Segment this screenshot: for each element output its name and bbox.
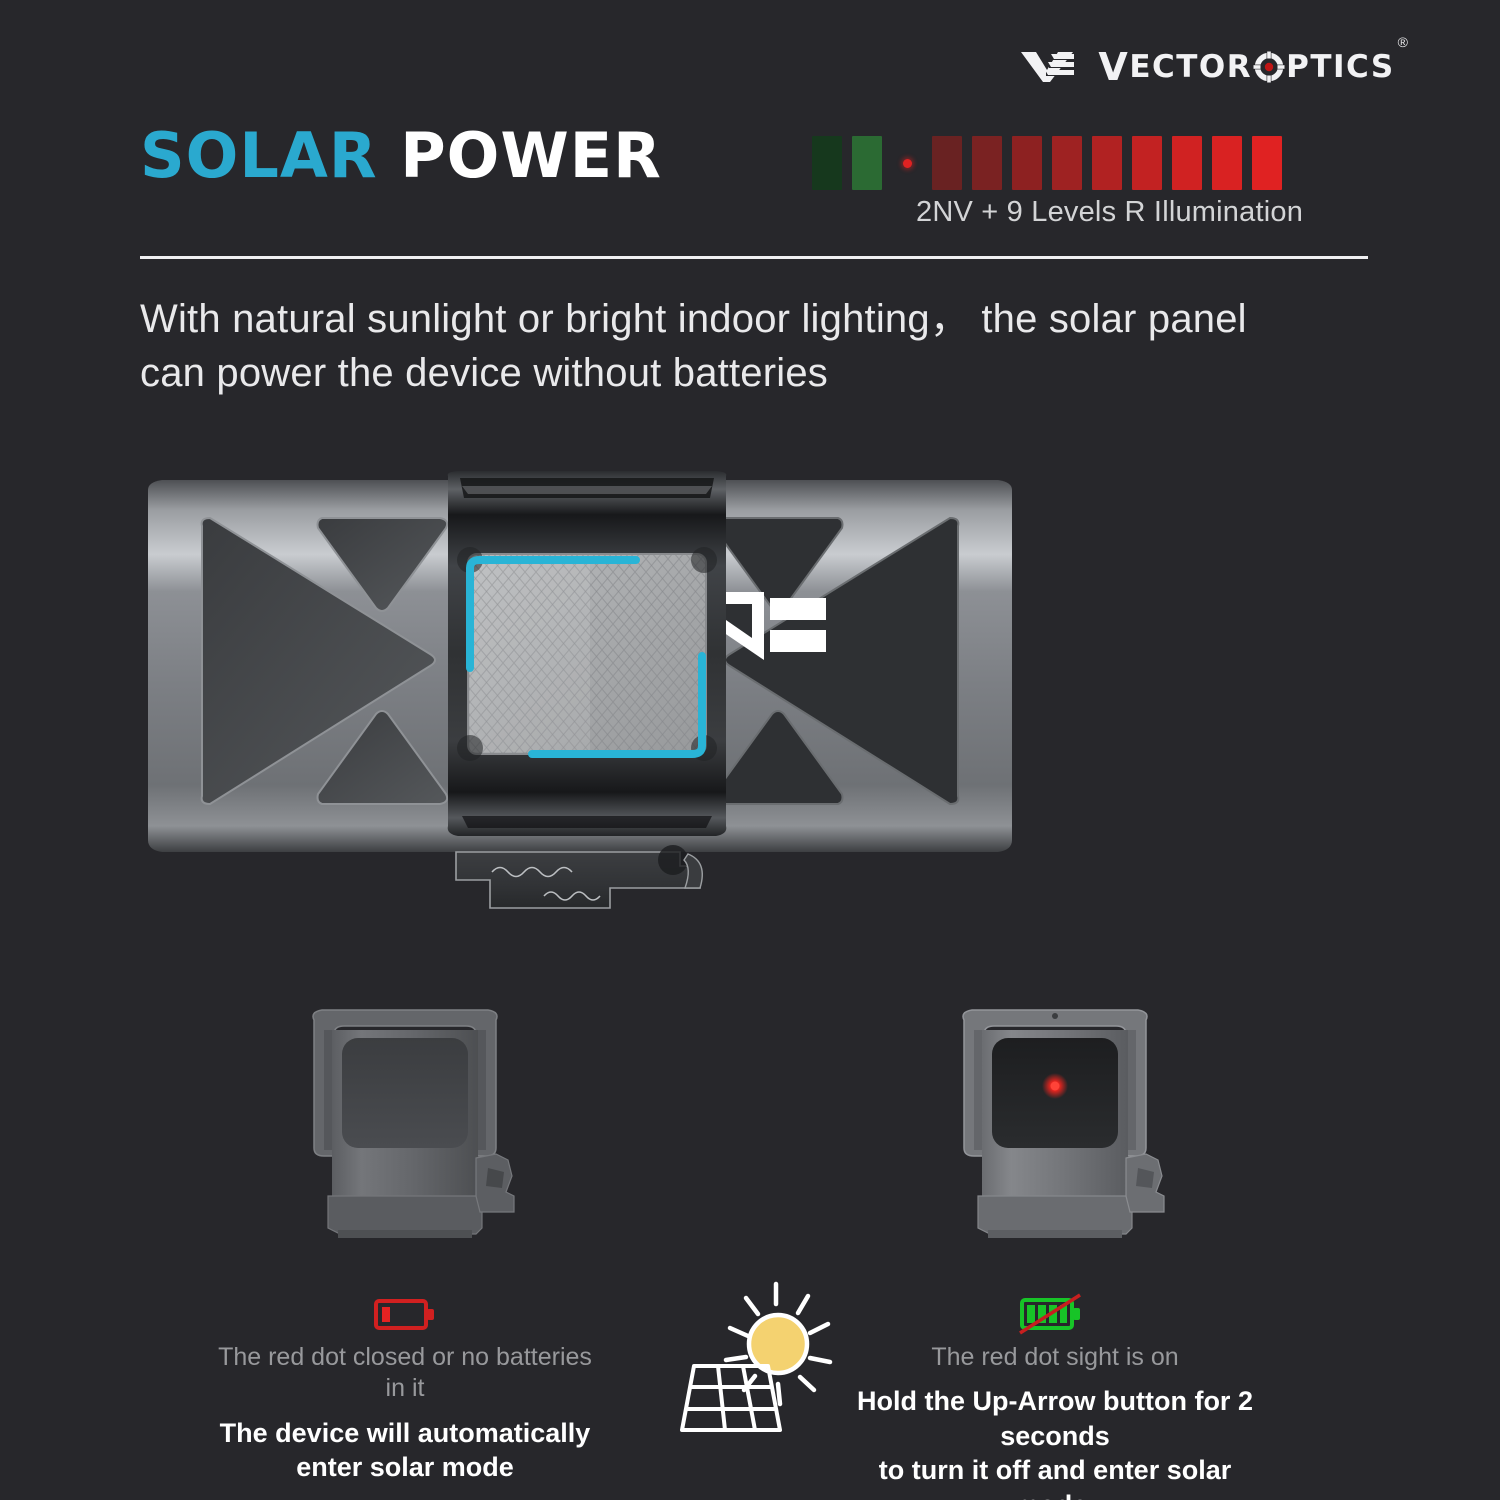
vector-optics-ve-mark-icon [1020,50,1076,84]
solar-mode-icon-wrap [668,1278,848,1438]
left-battery-wrap [205,1290,605,1338]
quick-release-mount [456,845,702,908]
illum-red-level-1 [932,136,962,190]
illum-red-level-2 [972,136,1002,190]
brand-wordmark: VECTOR PTICS [1098,48,1408,86]
comparison-right-column: The red dot sight is on Hold the Up-Arro… [855,1000,1255,1500]
title-word-solar: SOLAR [140,119,378,192]
solar-power-infographic: VECTOR PTICS [0,0,1500,1500]
illum-red-level-7 [1172,136,1202,190]
right-battery-wrap [855,1290,1255,1338]
right-caption-main-line1: Hold the Up-Arrow button for 2 seconds [855,1384,1255,1453]
brand-logo: VECTOR PTICS [1020,48,1408,86]
red-dot-sight-front-off-icon [280,1000,530,1280]
page-title: SOLAR POWER [140,125,662,187]
lead-line-2: can power the device without batteries [140,346,1370,400]
right-caption-main: Hold the Up-Arrow button for 2 seconds t… [855,1384,1255,1500]
brand-word-vector: VECTOR PTICS [1098,48,1394,86]
right-caption-sub: The red dot sight is on [855,1342,1255,1373]
target-o-icon [1252,50,1286,84]
right-sight-wrap [855,1000,1255,1290]
illum-dot-marker [903,159,912,168]
sun-and-solar-panel-icon [668,1278,848,1438]
left-caption-main-line2: enter solar mode [205,1450,605,1485]
title-word-power: POWER [400,119,662,192]
comparison-left-column: The red dot closed or no batteries in it… [205,1000,605,1485]
illum-red-level-6 [1132,136,1162,190]
left-caption-sub: The red dot closed or no batteries in it [205,1342,605,1405]
illumination-level-bars [812,136,1282,190]
battery-full-green-crossed-icon [1018,1293,1092,1335]
illum-nv-level-1 [812,136,842,190]
left-caption-main-line1: The device will automatically [205,1416,605,1451]
red-dot-sight-top-view-icon [140,468,1020,928]
solar-panel-grid [682,1366,780,1430]
lead-paragraph: With natural sunlight or bright indoor l… [140,292,1370,401]
illumination-caption: 2NV + 9 Levels R Illumination [916,196,1303,229]
product-top-view-image [140,468,1020,928]
red-dot-sight-front-on-icon [930,1000,1180,1280]
illum-off-dot [892,136,922,190]
illum-red-level-4 [1052,136,1082,190]
illum-red-level-5 [1092,136,1122,190]
illum-red-level-3 [1012,136,1042,190]
right-caption-main-line2: to turn it off and enter solar mode. [855,1453,1255,1500]
left-caption-main: The device will automatically enter sola… [205,1416,605,1485]
lead-line-1: With natural sunlight or bright indoor l… [140,292,1370,346]
left-sight-wrap [205,1000,605,1290]
illum-red-level-8 [1212,136,1242,190]
battery-empty-red-icon [374,1296,436,1332]
registered-mark: ® [1398,34,1408,50]
header-divider [140,256,1368,259]
illum-nv-level-2 [852,136,882,190]
illum-red-level-9 [1252,136,1282,190]
